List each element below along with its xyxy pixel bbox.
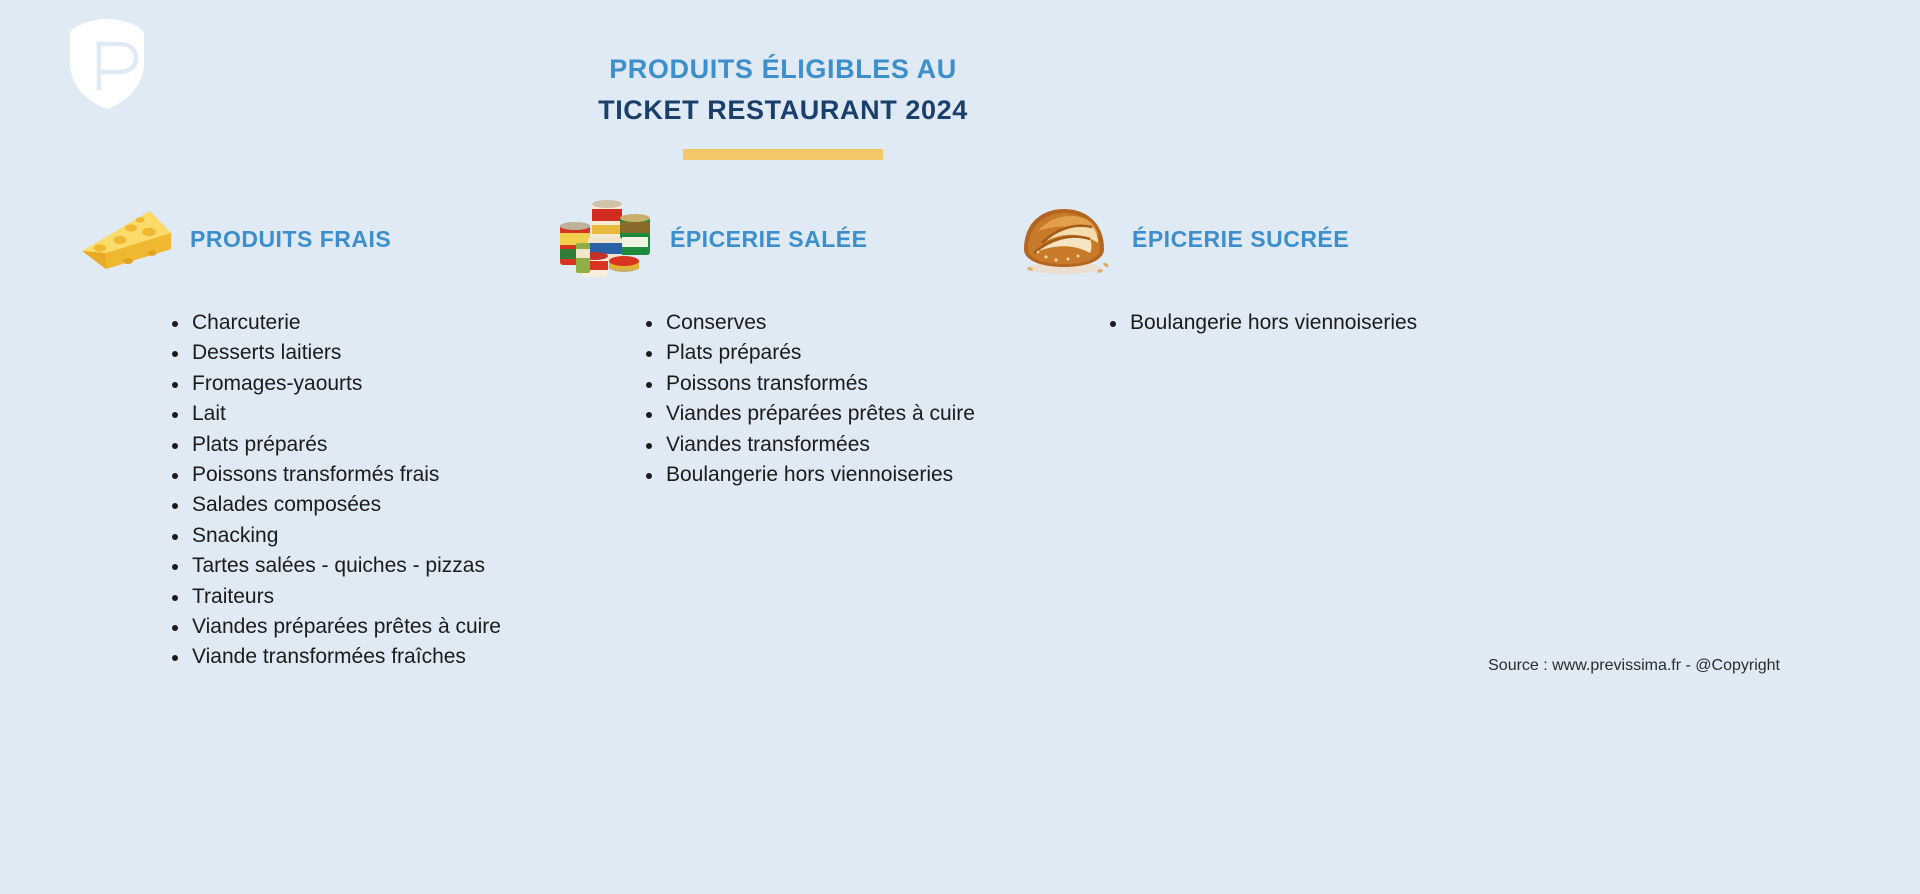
source-credit: Source : www.previssima.fr - @Copyright: [1488, 657, 1780, 675]
list-item: Viandes transformées: [644, 430, 1018, 460]
list-item: Snacking: [170, 521, 542, 551]
list-item: Lait: [170, 399, 542, 429]
category-column-epicerie-salee: ÉPICERIE SALÉE Conserves Plats préparés …: [548, 196, 1018, 490]
list-item: Charcuterie: [170, 308, 542, 338]
category-header: PRODUITS FRAIS: [72, 196, 542, 282]
category-title: ÉPICERIE SALÉE: [670, 226, 867, 253]
list-item: Conserves: [644, 308, 1018, 338]
canned-goods-icon: [548, 196, 660, 282]
category-title: ÉPICERIE SUCRÉE: [1132, 226, 1349, 253]
category-columns: PRODUITS FRAIS Charcuterie Desserts lait…: [0, 196, 1920, 716]
category-item-list: Conserves Plats préparés Poissons transf…: [548, 308, 1018, 490]
list-item: Desserts laitiers: [170, 338, 542, 368]
category-column-produits-frais: PRODUITS FRAIS Charcuterie Desserts lait…: [72, 196, 542, 673]
list-item: Tartes salées - quiches - pizzas: [170, 551, 542, 581]
bread-loaf-icon: [1010, 196, 1118, 282]
page-title-line1: PRODUITS ÉLIGIBLES AU: [0, 52, 1566, 86]
category-header: ÉPICERIE SALÉE: [548, 196, 1018, 282]
category-column-epicerie-sucree: ÉPICERIE SUCRÉE Boulangerie hors viennoi…: [1010, 196, 1530, 338]
list-item: Plats préparés: [644, 338, 1018, 368]
infographic-canvas: PRODUITS ÉLIGIBLES AU TICKET RESTAURANT …: [0, 0, 1920, 894]
list-item: Salades composées: [170, 490, 542, 520]
title-block: PRODUITS ÉLIGIBLES AU TICKET RESTAURANT …: [0, 52, 1566, 160]
list-item: Poissons transformés: [644, 369, 1018, 399]
list-item: Fromages-yaourts: [170, 369, 542, 399]
list-item: Viandes préparées prêtes à cuire: [644, 399, 1018, 429]
list-item: Traiteurs: [170, 582, 542, 612]
list-item: Boulangerie hors viennoiseries: [1108, 308, 1530, 338]
list-item: Viandes préparées prêtes à cuire: [170, 612, 542, 642]
list-item: Poissons transformés frais: [170, 460, 542, 490]
category-title: PRODUITS FRAIS: [190, 226, 391, 253]
cheese-wedge-icon: [72, 196, 180, 282]
list-item: Plats préparés: [170, 430, 542, 460]
page-title-line2: TICKET RESTAURANT 2024: [0, 91, 1566, 129]
category-header: ÉPICERIE SUCRÉE: [1010, 196, 1530, 282]
title-underline-rule: [683, 149, 883, 160]
category-item-list: Boulangerie hors viennoiseries: [1010, 308, 1530, 338]
list-item: Boulangerie hors viennoiseries: [644, 460, 1018, 490]
list-item: Viande transformées fraîches: [170, 642, 542, 672]
category-item-list: Charcuterie Desserts laitiers Fromages-y…: [72, 308, 542, 673]
